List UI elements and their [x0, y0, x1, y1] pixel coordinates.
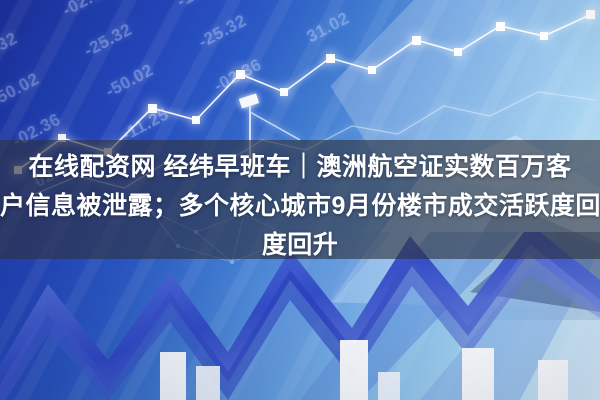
caption-line-1: 在线配资网 经纬早班车｜澳洲航空证实数百万客	[0, 140, 600, 187]
thumbnail-canvas: -50.02-02.36-25.3245.02-45.02-11.25-50.0…	[0, 0, 600, 400]
caption-line-2: 户信息被泄露；多个核心城市9月份楼市成交活跃度回升	[0, 187, 600, 226]
caption-text-block: 在线配资网 经纬早班车｜澳洲航空证实数百万客 户信息被泄露；多个核心城市9月份楼…	[0, 140, 600, 265]
caption-line-3: 度回升	[0, 226, 600, 265]
